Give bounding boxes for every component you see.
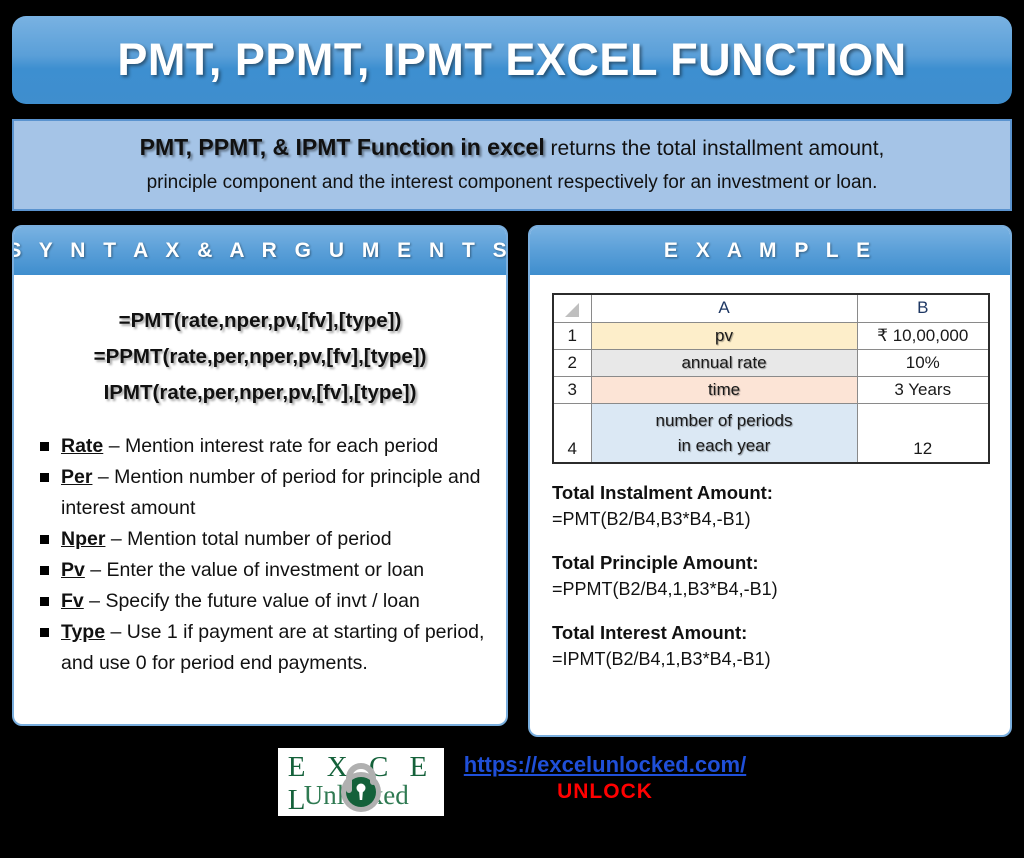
formula-list: Total Instalment Amount: =PMT(B2/B4,B3*B… — [530, 464, 1010, 672]
argument-list: Rate – Mention interest rate for each pe… — [14, 417, 506, 679]
spreadsheet-wrapper: A B 1 pv ₹ 10,00,000 2 annual rate 10% — [530, 275, 1010, 464]
syntax-line-pmt: =PMT(rate,nper,pv,[fv],[type]) — [24, 303, 496, 339]
cell-b2[interactable]: 10% — [857, 349, 989, 376]
list-item: Per – Mention number of period for princ… — [40, 462, 492, 524]
list-item: Pv – Enter the value of investment or lo… — [40, 555, 492, 586]
spreadsheet-table: A B 1 pv ₹ 10,00,000 2 annual rate 10% — [552, 293, 990, 464]
cell-b1[interactable]: ₹ 10,00,000 — [857, 322, 989, 349]
select-all-triangle-icon — [565, 303, 579, 317]
subtitle-line-1: PMT, PPMT, & IPMT Function in excel retu… — [28, 130, 996, 166]
list-item: Nper – Mention total number of period — [40, 524, 492, 555]
list-item: Type – Use 1 if payment are at starting … — [40, 617, 492, 679]
infographic-page: PMT, PPMT, IPMT EXCEL FUNCTION PMT, PPMT… — [0, 0, 1024, 858]
unlock-label: UNLOCK — [464, 780, 746, 804]
excel-unlocked-logo[interactable]: E X C E L Unlocked — [278, 748, 444, 816]
cell-a2[interactable]: annual rate — [591, 349, 857, 376]
spreadsheet-column-header-row: A B — [553, 294, 989, 322]
formula-code: =IPMT(B2/B4,1,B3*B4,-B1) — [552, 646, 992, 672]
argument-desc: – Mention total number of period — [105, 528, 391, 550]
argument-term: Fv — [61, 590, 84, 612]
site-link-block: https://excelunlocked.com/ UNLOCK — [464, 748, 746, 804]
bullet-square-icon — [40, 597, 49, 606]
formula-group-instalment: Total Instalment Amount: =PMT(B2/B4,B3*B… — [552, 480, 992, 532]
cell-a4[interactable]: number of periods in each year — [591, 403, 857, 463]
argument-text: Rate – Mention interest rate for each pe… — [61, 431, 492, 462]
table-row: 3 time 3 Years — [553, 376, 989, 403]
argument-text: Type – Use 1 if payment are at starting … — [61, 617, 492, 679]
bullet-square-icon — [40, 442, 49, 451]
row-number-4[interactable]: 4 — [553, 403, 591, 463]
subtitle-line-2: principle component and the interest com… — [28, 166, 996, 200]
table-row: 2 annual rate 10% — [553, 349, 989, 376]
cell-a4-line2: in each year — [678, 436, 771, 455]
subtitle-rest: returns the total installment amount, — [545, 137, 885, 160]
syntax-line-ppmt: =PPMT(rate,per,nper,pv,[fv],[type]) — [24, 339, 496, 375]
column-header-a[interactable]: A — [591, 294, 857, 322]
formula-title: Total Principle Amount: — [552, 550, 992, 576]
table-row: 1 pv ₹ 10,00,000 — [553, 322, 989, 349]
page-title: PMT, PPMT, IPMT EXCEL FUNCTION — [117, 34, 906, 86]
argument-text: Per – Mention number of period for princ… — [61, 462, 492, 524]
argument-term: Type — [61, 621, 105, 643]
syntax-card-header-label: S Y N T A X & A R G U M E N T S — [12, 239, 508, 263]
title-banner: PMT, PPMT, IPMT EXCEL FUNCTION — [12, 16, 1012, 104]
argument-term: Rate — [61, 435, 103, 457]
example-card: E X A M P L E A B 1 pv ₹ 10,00,000 — [528, 225, 1012, 737]
list-item: Rate – Mention interest rate for each pe… — [40, 431, 492, 462]
bullet-square-icon — [40, 628, 49, 637]
cell-a3[interactable]: time — [591, 376, 857, 403]
argument-text: Pv – Enter the value of investment or lo… — [61, 555, 492, 586]
row-number-2[interactable]: 2 — [553, 349, 591, 376]
argument-desc: – Specify the future value of invt / loa… — [84, 590, 420, 612]
formula-group-interest: Total Interest Amount: =IPMT(B2/B4,1,B3*… — [552, 620, 992, 672]
cell-a1[interactable]: pv — [591, 322, 857, 349]
bullet-square-icon — [40, 566, 49, 575]
argument-desc: – Mention interest rate for each period — [103, 435, 438, 457]
column-header-b[interactable]: B — [857, 294, 989, 322]
formula-title: Total Interest Amount: — [552, 620, 992, 646]
example-card-header: E X A M P L E — [530, 227, 1010, 275]
argument-text: Fv – Specify the future value of invt / … — [61, 586, 492, 617]
bullet-square-icon — [40, 535, 49, 544]
padlock-icon — [335, 762, 387, 814]
formula-code: =PPMT(B2/B4,1,B3*B4,-B1) — [552, 576, 992, 602]
footer: E X C E L Unlocked https://excelunlocked… — [0, 742, 1024, 858]
cell-a4-line1: number of periods — [655, 411, 792, 430]
example-card-body: A B 1 pv ₹ 10,00,000 2 annual rate 10% — [530, 275, 1010, 672]
example-card-header-label: E X A M P L E — [664, 239, 876, 263]
syntax-list: =PMT(rate,nper,pv,[fv],[type]) =PPMT(rat… — [14, 275, 506, 417]
argument-term: Nper — [61, 528, 105, 550]
argument-desc: – Enter the value of investment or loan — [85, 559, 424, 581]
subtitle-strong: PMT, PPMT, & IPMT Function in excel — [140, 134, 545, 160]
select-all-corner[interactable] — [553, 294, 591, 322]
argument-text: Nper – Mention total number of period — [61, 524, 492, 555]
syntax-card-body: =PMT(rate,nper,pv,[fv],[type]) =PPMT(rat… — [14, 275, 506, 679]
bullet-square-icon — [40, 473, 49, 482]
website-url-link[interactable]: https://excelunlocked.com/ — [464, 752, 746, 778]
argument-term: Pv — [61, 559, 85, 581]
formula-code: =PMT(B2/B4,B3*B4,-B1) — [552, 506, 992, 532]
argument-term: Per — [61, 466, 92, 488]
syntax-card: S Y N T A X & A R G U M E N T S =PMT(rat… — [12, 225, 508, 726]
list-item: Fv – Specify the future value of invt / … — [40, 586, 492, 617]
row-number-3[interactable]: 3 — [553, 376, 591, 403]
argument-desc: – Mention number of period for principle… — [61, 466, 481, 519]
cell-b4[interactable]: 12 — [857, 403, 989, 463]
subtitle-band: PMT, PPMT, & IPMT Function in excel retu… — [12, 119, 1012, 211]
formula-title: Total Instalment Amount: — [552, 480, 992, 506]
formula-group-principle: Total Principle Amount: =PPMT(B2/B4,1,B3… — [552, 550, 992, 602]
cell-b3[interactable]: 3 Years — [857, 376, 989, 403]
row-number-1[interactable]: 1 — [553, 322, 591, 349]
table-row: 4 number of periods in each year 12 — [553, 403, 989, 463]
syntax-card-header: S Y N T A X & A R G U M E N T S — [14, 227, 506, 275]
syntax-line-ipmt: IPMT(rate,per,nper,pv,[fv],[type]) — [24, 375, 496, 411]
argument-desc: – Use 1 if payment are at starting of pe… — [61, 621, 484, 674]
